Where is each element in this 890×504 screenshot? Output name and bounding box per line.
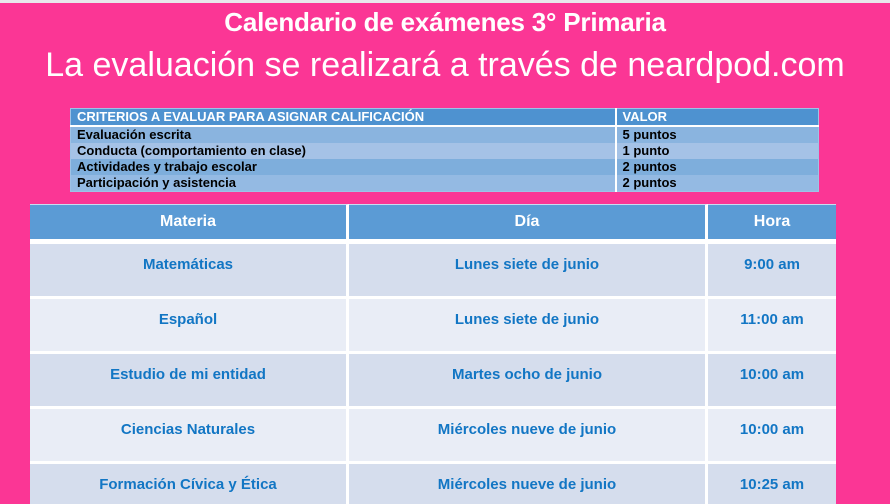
criteria-row: Conducta (comportamiento en clase) 1 pun… (71, 143, 819, 159)
schedule-header-dia: Día (349, 204, 708, 244)
schedule-table: Materia Día Hora Matemáticas Lunes siete… (30, 204, 836, 504)
schedule-cell-hora: 11:00 am (708, 299, 836, 354)
criteria-table: CRITERIOS A EVALUAR PARA ASIGNAR CALIFIC… (70, 108, 819, 192)
schedule-cell-hora: 10:00 am (708, 354, 836, 409)
table-row: Matemáticas Lunes siete de junio 9:00 am (30, 244, 836, 299)
page-title: Calendario de exámenes 3° Primaria (0, 6, 890, 38)
schedule-cell-dia: Miércoles nueve de junio (349, 464, 708, 504)
schedule-cell-hora: 10:25 am (708, 464, 836, 504)
slide-canvas: Calendario de exámenes 3° Primaria La ev… (0, 0, 890, 504)
criteria-cell-valor: 1 punto (616, 143, 819, 159)
criteria-cell-criterio: Actividades y trabajo escolar (71, 159, 616, 175)
schedule-cell-hora: 10:00 am (708, 409, 836, 464)
criteria-header-row: CRITERIOS A EVALUAR PARA ASIGNAR CALIFIC… (71, 109, 819, 127)
schedule-cell-materia: Matemáticas (30, 244, 349, 299)
criteria-row: Participación y asistencia 2 puntos (71, 175, 819, 192)
schedule-cell-materia: Español (30, 299, 349, 354)
schedule-cell-materia: Ciencias Naturales (30, 409, 349, 464)
criteria-cell-criterio: Participación y asistencia (71, 175, 616, 192)
schedule-cell-dia: Martes ocho de junio (349, 354, 708, 409)
criteria-cell-criterio: Conducta (comportamiento en clase) (71, 143, 616, 159)
table-row: Español Lunes siete de junio 11:00 am (30, 299, 836, 354)
page-subtitle: La evaluación se realizará a través de n… (0, 44, 890, 86)
schedule-cell-hora: 9:00 am (708, 244, 836, 299)
schedule-cell-materia: Formación Cívica y Ética (30, 464, 349, 504)
schedule-cell-dia: Lunes siete de junio (349, 299, 708, 354)
criteria-row: Actividades y trabajo escolar 2 puntos (71, 159, 819, 175)
criteria-cell-valor: 2 puntos (616, 175, 819, 192)
table-row: Formación Cívica y Ética Miércoles nueve… (30, 464, 836, 504)
schedule-header-row: Materia Día Hora (30, 204, 836, 244)
schedule-header-materia: Materia (30, 204, 349, 244)
criteria-header-valor: VALOR (616, 109, 819, 127)
criteria-cell-criterio: Evaluación escrita (71, 126, 616, 143)
criteria-header-criterio: CRITERIOS A EVALUAR PARA ASIGNAR CALIFIC… (71, 109, 616, 127)
table-row: Ciencias Naturales Miércoles nueve de ju… (30, 409, 836, 464)
schedule-cell-dia: Lunes siete de junio (349, 244, 708, 299)
criteria-row: Evaluación escrita 5 puntos (71, 126, 819, 143)
table-row: Estudio de mi entidad Martes ocho de jun… (30, 354, 836, 409)
schedule-cell-materia: Estudio de mi entidad (30, 354, 349, 409)
schedule-header-hora: Hora (708, 204, 836, 244)
schedule-cell-dia: Miércoles nueve de junio (349, 409, 708, 464)
criteria-cell-valor: 2 puntos (616, 159, 819, 175)
top-edge-strip (0, 0, 890, 3)
criteria-cell-valor: 5 puntos (616, 126, 819, 143)
